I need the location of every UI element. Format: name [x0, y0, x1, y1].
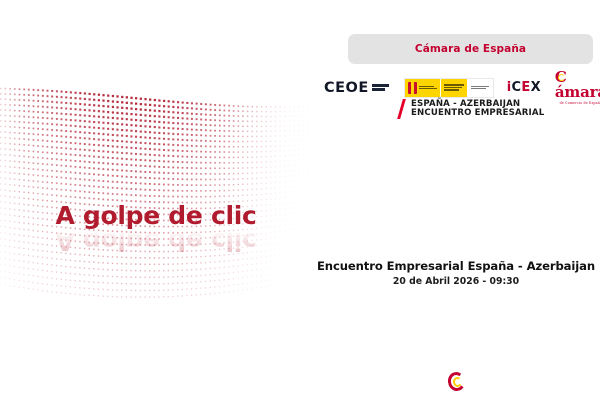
- event-title-line-2: ENCUENTRO EMPRESARIAL: [411, 109, 544, 118]
- event-title-block: ESPAÑA - AZERBAIJAN ENCUENTRO EMPRESARIA…: [397, 99, 544, 119]
- gob-text-lines: [419, 86, 437, 90]
- ministerio-cell: [441, 79, 468, 97]
- spain-coat-of-arms-icon: [408, 82, 417, 94]
- event-title-lines: ESPAÑA - AZERBAIJAN ENCUENTRO EMPRESARIA…: [411, 100, 544, 119]
- ceoe-logo-sub-mark: [372, 84, 389, 92]
- left-panel: A golpe de clic A golpe de clic: [0, 0, 312, 406]
- icex-logo: iCEX: [507, 80, 541, 95]
- ceoe-logo-text: CEOE: [324, 80, 369, 96]
- icex-letter-e: E: [521, 80, 530, 95]
- header-pill-label: Cámara de España: [415, 43, 526, 55]
- hero-title: A golpe de clic: [0, 203, 312, 228]
- hero-title-reflection: A golpe de clic: [0, 229, 312, 254]
- hero-title-block: A golpe de clic A golpe de clic: [0, 203, 312, 273]
- event-caption-main: Encuentro Empresarial España - Azerbaija…: [312, 259, 600, 273]
- secretaria-cell: [468, 79, 493, 97]
- ceoe-bar-1: [372, 84, 389, 87]
- header-pill[interactable]: Cámara de España: [348, 34, 593, 64]
- ceoe-logo: CEOE: [324, 80, 389, 96]
- event-caption-sub: 20 de Abril 2026 - 09:30: [312, 276, 600, 287]
- ceoe-bar-2: [372, 88, 385, 91]
- icex-letter-c: C: [512, 80, 522, 95]
- camara-logo-tagline: de Comercio de España: [560, 101, 600, 105]
- footer-brand-mark: [312, 372, 600, 391]
- gobierno-de-espana-logo: [404, 78, 494, 98]
- slide-screen: A golpe de clic A golpe de clic Cámara d…: [0, 0, 600, 406]
- right-panel: Cámara de España CEOE: [312, 0, 600, 406]
- ministerio-text-lines: [444, 84, 464, 90]
- secretaria-text-lines: [471, 86, 489, 90]
- red-slash-icon: [397, 99, 406, 119]
- gob-shield-cell: [405, 79, 441, 97]
- sponsor-logo-row: CEOE: [324, 74, 594, 101]
- icex-letter-x: X: [531, 80, 541, 95]
- camara-c-icon: [448, 372, 465, 391]
- camara-logo-text: Cámara: [555, 70, 600, 100]
- camara-logo: Cámara de Comercio de España: [555, 70, 600, 105]
